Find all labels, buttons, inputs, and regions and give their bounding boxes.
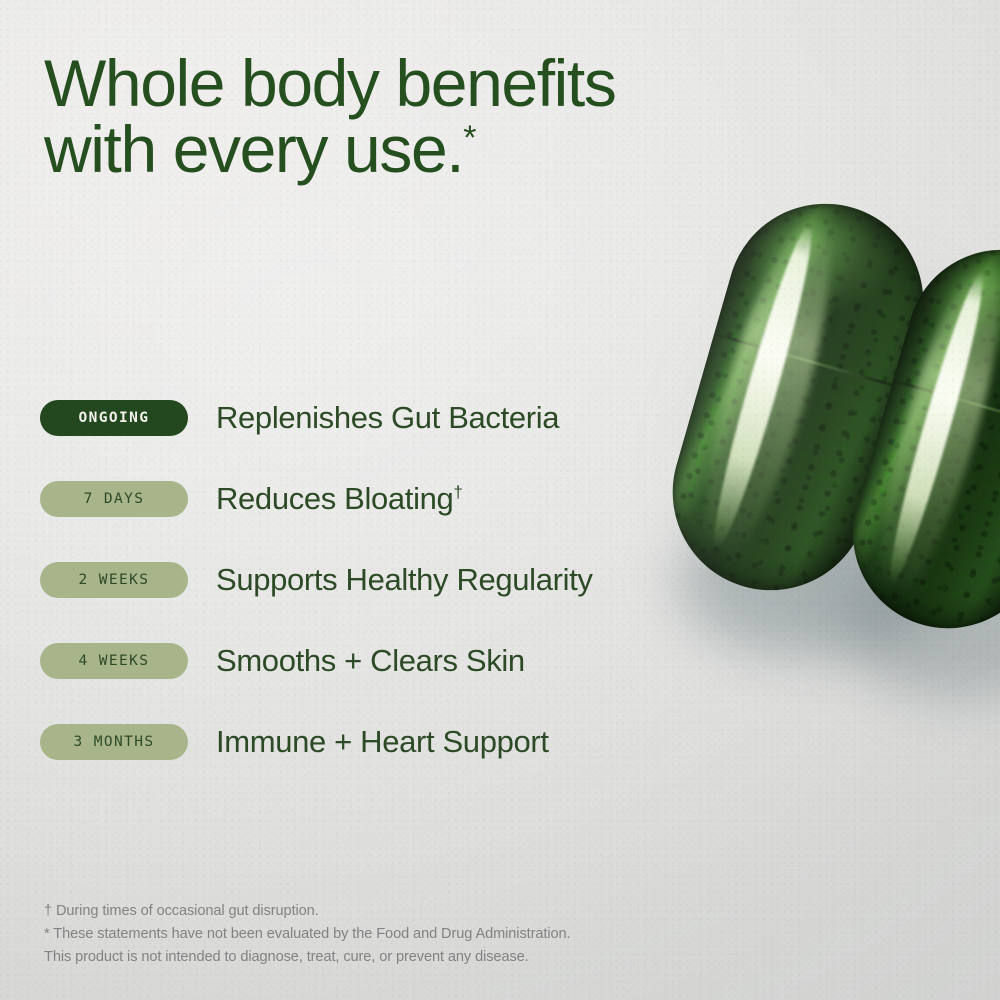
benefit-row: 4 WEEKS Smooths + Clears Skin	[40, 643, 593, 679]
footnote-asterisk-line-2: This product is not intended to diagnose…	[44, 946, 570, 969]
capsule-left-seam	[706, 330, 910, 391]
capsule-right-edge-shading	[830, 227, 1000, 650]
benefit-label: Reduces Bloating†	[216, 481, 463, 517]
capsule-shadow-right	[846, 560, 1000, 700]
timeline-badge-2-weeks: 2 WEEKS	[40, 562, 188, 598]
benefit-row: 3 MONTHS Immune + Heart Support	[40, 724, 593, 760]
capsule-left-soft-highlight	[681, 207, 854, 569]
capsule-right-texture	[830, 227, 1000, 650]
benefit-label-text: Replenishes Gut Bacteria	[216, 400, 559, 435]
benefit-row: ONGOING Replenishes Gut Bacteria	[40, 400, 593, 436]
benefit-label-text: Immune + Heart Support	[216, 724, 549, 759]
capsule-right-cap-end	[894, 228, 1000, 442]
timeline-badge-7-days: 7 DAYS	[40, 481, 188, 517]
benefit-footnote-marker: †	[453, 483, 462, 502]
timeline-badge-4-weeks: 4 WEEKS	[40, 643, 188, 679]
capsule-shadow-left	[676, 506, 926, 656]
benefit-label-text: Reduces Bloating	[216, 481, 453, 516]
footnote-asterisk-line-1: * These statements have not been evaluat…	[44, 923, 570, 946]
capsule-left-cap-end	[714, 182, 943, 401]
page-title: Whole body benefitswith every use.*	[44, 50, 615, 182]
capsule-left-texture	[649, 181, 946, 614]
timeline-badge-3-months: 3 MONTHS	[40, 724, 188, 760]
page-title-line-2: with every use.	[44, 112, 463, 186]
benefit-label-text: Smooths + Clears Skin	[216, 643, 525, 678]
capsule-left	[649, 181, 946, 614]
capsule-right	[830, 227, 1000, 650]
page-title-footnote-marker: *	[463, 119, 476, 157]
benefit-label: Supports Healthy Regularity	[216, 562, 593, 598]
promo-card: Whole body benefitswith every use.* ONGO…	[0, 0, 1000, 1000]
benefit-label-text: Supports Healthy Regularity	[216, 562, 593, 597]
timeline-badge-ongoing: ONGOING	[40, 400, 188, 436]
benefit-label: Immune + Heart Support	[216, 724, 549, 760]
benefit-list: ONGOING Replenishes Gut Bacteria 7 DAYS …	[40, 400, 593, 805]
capsule-left-specular-highlight	[702, 220, 824, 554]
footnote-dagger: † During times of occasional gut disrupt…	[44, 900, 570, 923]
page-title-line-1: Whole body benefits	[44, 46, 615, 120]
benefit-row: 7 DAYS Reduces Bloating†	[40, 481, 593, 517]
benefit-label: Replenishes Gut Bacteria	[216, 400, 559, 436]
footnote-block: † During times of occasional gut disrupt…	[44, 900, 570, 969]
benefit-row: 2 WEEKS Supports Healthy Regularity	[40, 562, 593, 598]
capsule-right-specular-highlight	[879, 268, 994, 587]
capsule-right-seam	[885, 377, 1000, 436]
capsule-left-edge-shading	[649, 181, 946, 614]
capsule-shadow-soft	[714, 300, 1000, 630]
benefit-label: Smooths + Clears Skin	[216, 643, 525, 679]
capsule-right-soft-highlight	[858, 252, 1000, 606]
